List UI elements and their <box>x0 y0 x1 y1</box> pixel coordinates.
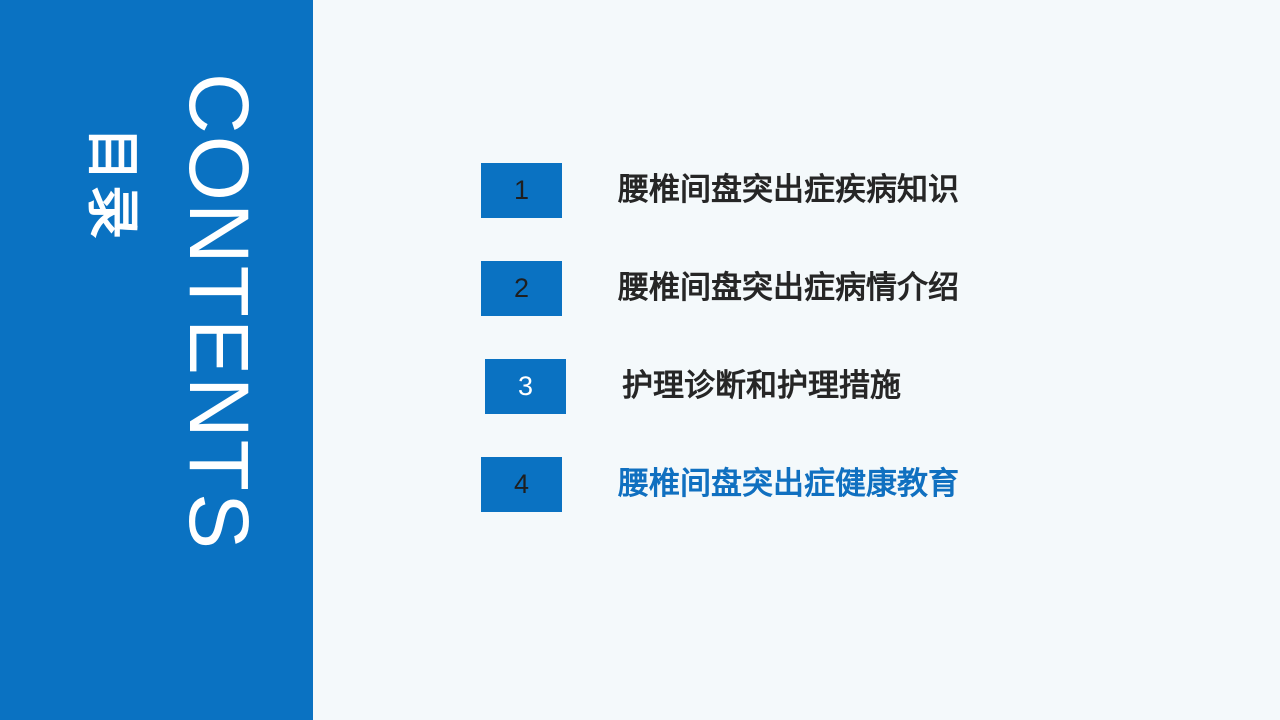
toc-label-2: 腰椎间盘突出症病情介绍 <box>618 273 959 304</box>
table-of-contents: 1 腰椎间盘突出症疾病知识 2 腰椎间盘突出症病情介绍 3 护理诊断和护理措施 … <box>481 163 1221 512</box>
sidebar-title-chinese: 目录 <box>85 127 139 243</box>
toc-item-3[interactable]: 3 护理诊断和护理措施 <box>485 359 1225 414</box>
toc-number-badge-1: 1 <box>481 163 562 218</box>
toc-label-3: 护理诊断和护理措施 <box>622 371 901 402</box>
toc-label-1: 腰椎间盘突出症疾病知识 <box>618 175 959 206</box>
toc-number-badge-2: 2 <box>481 261 562 316</box>
toc-number-badge-4: 4 <box>481 457 562 512</box>
toc-label-4: 腰椎间盘突出症健康教育 <box>618 469 959 500</box>
toc-item-4[interactable]: 4 腰椎间盘突出症健康教育 <box>481 457 1221 512</box>
toc-number-badge-3: 3 <box>485 359 566 414</box>
toc-item-2[interactable]: 2 腰椎间盘突出症病情介绍 <box>481 261 1221 316</box>
sidebar-panel: 目录 CONTENTS <box>0 0 313 720</box>
slide-contents: 目录 CONTENTS 1 腰椎间盘突出症疾病知识 2 腰椎间盘突出症病情介绍 … <box>0 0 1280 720</box>
toc-item-1[interactable]: 1 腰椎间盘突出症疾病知识 <box>481 163 1221 218</box>
sidebar-title-english: CONTENTS <box>177 73 261 551</box>
